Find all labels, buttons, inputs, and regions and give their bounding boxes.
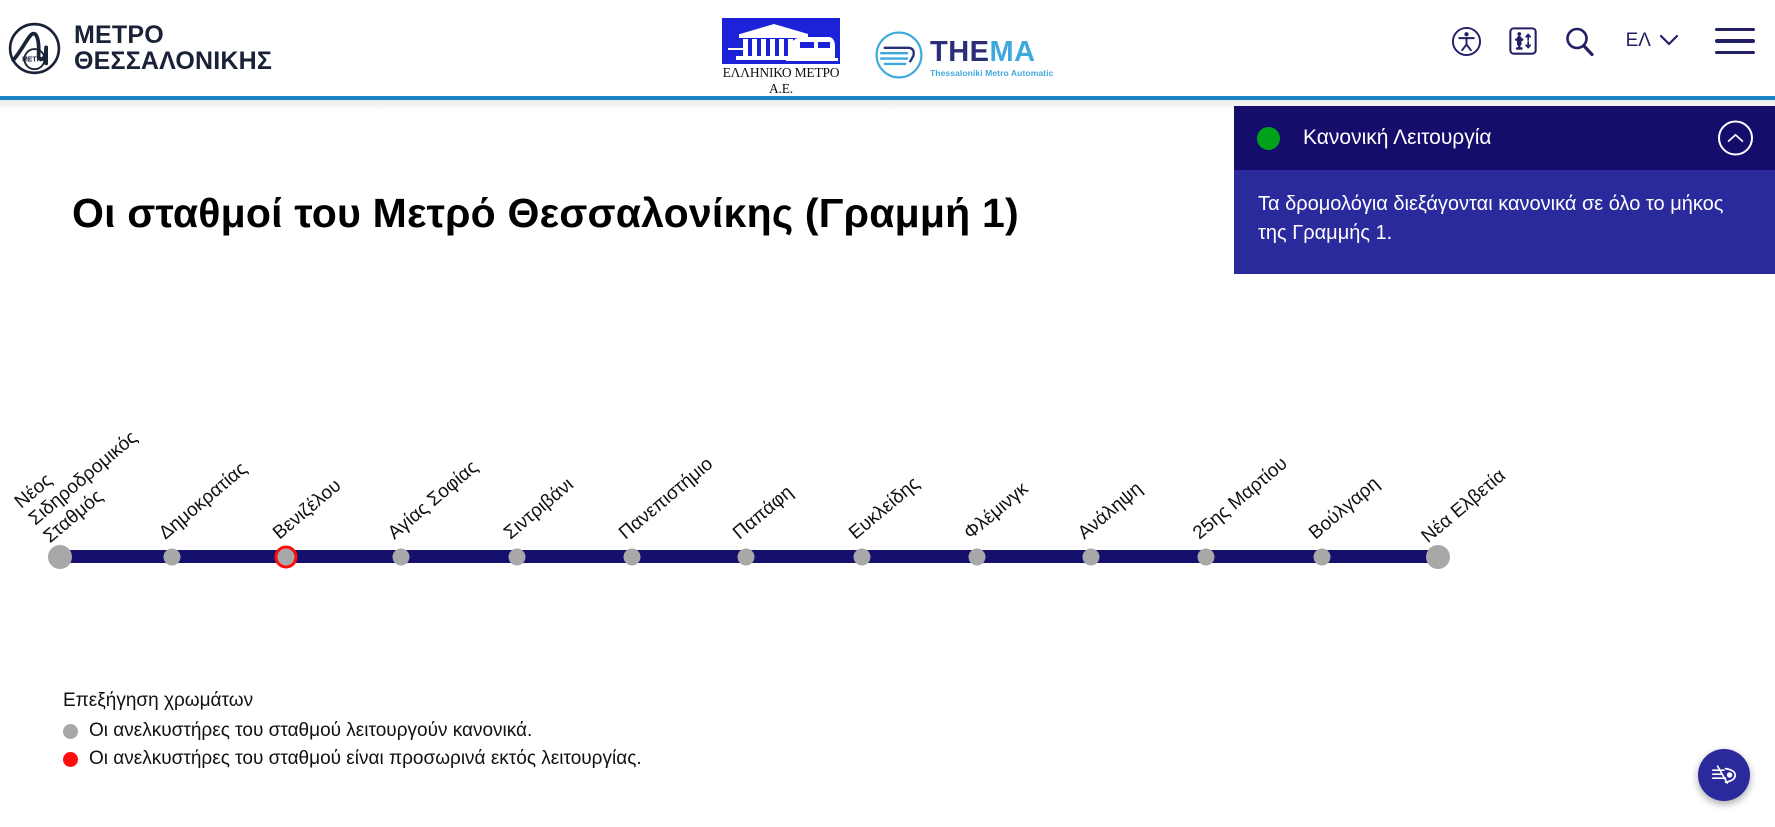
station-label-line: Δημοκρατίας: [155, 458, 252, 545]
thema-logo[interactable]: THEMA Thessaloniki Metro Automatic: [872, 29, 1053, 86]
metro-line-diagram: ΝέοςΣιδηροδρομικόςΣταθμόςΔημοκρατίαςΒενι…: [0, 340, 1775, 620]
elliniko-metro-logo[interactable]: ΕΛΛΗΝΙΚΟ ΜΕΤΡΟ Α.Ε.: [722, 18, 840, 97]
service-status-header[interactable]: Κανονική Λειτουργία: [1234, 106, 1775, 170]
hamburger-menu-icon[interactable]: [1715, 28, 1755, 54]
station-label[interactable]: Ανάληψη: [1074, 478, 1147, 545]
brand-title-line2: ΘΕΣΣΑΛΟΝΙΚΗΣ: [74, 49, 272, 75]
station-dot[interactable]: [509, 548, 526, 565]
station-label-line: Βενιζέλου: [269, 475, 346, 545]
thema-mark-icon: [872, 29, 926, 86]
thema-wordmark-main: THEMA: [930, 38, 1053, 67]
station-label[interactable]: Παπάφη: [729, 482, 798, 545]
search-icon[interactable]: [1562, 24, 1596, 58]
legend: Επεξήγηση χρωμάτων Οι ανελκυστήρες του σ…: [63, 690, 642, 770]
metro-station: Δημοκρατίας: [164, 548, 181, 565]
station-label-line: Φλέμινγκ: [960, 478, 1033, 545]
station-label[interactable]: ΝέοςΣιδηροδρομικόςΣταθμός: [11, 410, 157, 548]
station-dot[interactable]: [624, 548, 641, 565]
legend-dot: [63, 724, 78, 739]
metro-station: Παπάφη: [738, 548, 755, 565]
station-label[interactable]: Φλέμινγκ: [960, 478, 1033, 545]
hamburger-bar: [1715, 28, 1755, 31]
station-label[interactable]: Βενιζέλου: [269, 475, 346, 545]
station-label[interactable]: Νέα Ελβετία: [1418, 465, 1511, 548]
brand-logo[interactable]: METRO ΜΕΤΡΟ ΘΕΣΣΑΛΟΝΙΚΗΣ: [8, 22, 272, 75]
station-label[interactable]: 25ης Μαρτίου: [1189, 453, 1292, 545]
metro-station: Νέα Ελβετία: [1426, 545, 1450, 569]
station-label[interactable]: Ευκλείδης: [845, 473, 925, 545]
station-label[interactable]: Αγίας Σοφίας: [384, 457, 483, 545]
chevron-down-icon: [1659, 30, 1679, 52]
metro-station: Αγίας Σοφίας: [393, 548, 410, 565]
station-dot[interactable]: [1314, 548, 1331, 565]
station-dot[interactable]: [1198, 548, 1215, 565]
station-label[interactable]: Βούλγαρη: [1305, 473, 1385, 545]
metro-logo-icon: METRO: [8, 22, 61, 75]
page-title: Οι σταθμοί του Μετρό Θεσσαλονίκης (Γραμμ…: [72, 190, 1019, 237]
station-label[interactable]: Δημοκρατίας: [155, 458, 252, 545]
hamburger-bar: [1715, 39, 1755, 42]
language-label: ΕΛ: [1626, 30, 1651, 52]
language-selector[interactable]: ΕΛ: [1626, 30, 1679, 52]
station-label[interactable]: Πανεπιστήμιο: [615, 454, 718, 545]
station-label-line: Σιντριβάνι: [500, 474, 578, 545]
metro-station: ΝέοςΣιδηροδρομικόςΣταθμός: [48, 545, 72, 569]
station-label-line: Παπάφη: [729, 482, 798, 545]
legend-title: Επεξήγηση χρωμάτων: [63, 690, 642, 712]
service-status-message: Τα δρομολόγια διεξάγονται κανονικά σε όλ…: [1234, 170, 1775, 274]
legend-text: Οι ανελκυστήρες του σταθμού είναι προσωρ…: [89, 748, 642, 770]
station-label-line: Νέα Ελβετία: [1418, 465, 1511, 548]
station-label-line: Αγίας Σοφίας: [384, 457, 483, 545]
metro-station: Σιντριβάνι: [509, 548, 526, 565]
station-label[interactable]: Σιντριβάνι: [500, 474, 578, 545]
elliniko-metro-icon: [722, 18, 840, 64]
header-tools: ΕΛ: [1450, 24, 1755, 58]
sign-language-icon[interactable]: [1698, 749, 1750, 801]
service-status-title: Κανονική Λειτουργία: [1303, 126, 1492, 150]
elevator-icon[interactable]: [1506, 24, 1540, 58]
service-status-panel: Κανονική Λειτουργία Τα δρομολόγια διεξάγ…: [1234, 106, 1775, 274]
station-dot[interactable]: [738, 548, 755, 565]
metro-station: 25ης Μαρτίου: [1198, 548, 1215, 565]
metro-station: Βενιζέλου: [278, 548, 295, 565]
station-dot[interactable]: [1083, 548, 1100, 565]
station-dot[interactable]: [1426, 545, 1450, 569]
metro-station: Βούλγαρη: [1314, 548, 1331, 565]
page-root: METRO ΜΕΤΡΟ ΘΕΣΣΑΛΟΝΙΚΗΣ: [0, 0, 1775, 827]
accessibility-icon[interactable]: [1450, 24, 1484, 58]
legend-item: Οι ανελκυστήρες του σταθμού λειτουργούν …: [63, 720, 642, 742]
chevron-up-icon[interactable]: [1718, 121, 1753, 156]
brand-title: ΜΕΤΡΟ ΘΕΣΣΑΛΟΝΙΚΗΣ: [74, 23, 272, 74]
station-dot[interactable]: [969, 548, 986, 565]
legend-text: Οι ανελκυστήρες του σταθμού λειτουργούν …: [89, 720, 532, 742]
station-label-line: 25ης Μαρτίου: [1189, 453, 1292, 545]
thema-tagline: Thessaloniki Metro Automatic: [930, 69, 1053, 78]
site-header: METRO ΜΕΤΡΟ ΘΕΣΣΑΛΟΝΙΚΗΣ: [0, 0, 1775, 100]
metro-station: Πανεπιστήμιο: [624, 548, 641, 565]
station-label-line: Ευκλείδης: [845, 473, 925, 545]
station-label-line: Βούλγαρη: [1305, 473, 1385, 545]
hamburger-bar: [1715, 51, 1755, 54]
elliniko-metro-caption: ΕΛΛΗΝΙΚΟ ΜΕΤΡΟ Α.Ε.: [722, 65, 840, 97]
status-indicator-dot: [1257, 127, 1280, 150]
legend-host: Οι ανελκυστήρες του σταθμού λειτουργούν …: [63, 720, 642, 770]
station-dot[interactable]: [393, 548, 410, 565]
station-label-line: Πανεπιστήμιο: [615, 454, 718, 545]
station-dot[interactable]: [164, 548, 181, 565]
legend-item: Οι ανελκυστήρες του σταθμού είναι προσωρ…: [63, 748, 642, 770]
legend-dot: [63, 752, 78, 767]
station-dot[interactable]: [48, 545, 72, 569]
metro-station: Ανάληψη: [1083, 548, 1100, 565]
thema-wordmark: THEMA Thessaloniki Metro Automatic: [930, 38, 1053, 78]
brand-title-line1: ΜΕΤΡΟ: [74, 23, 272, 49]
svg-text:METRO: METRO: [22, 57, 47, 64]
station-dot[interactable]: [854, 548, 871, 565]
metro-station: Ευκλείδης: [854, 548, 871, 565]
metro-station: Φλέμινγκ: [969, 548, 986, 565]
station-dot[interactable]: [278, 548, 295, 565]
partner-logos: ΕΛΛΗΝΙΚΟ ΜΕΤΡΟ Α.Ε. THEMA Thessaloniki M…: [722, 18, 1053, 97]
station-label-line: Ανάληψη: [1074, 478, 1147, 545]
